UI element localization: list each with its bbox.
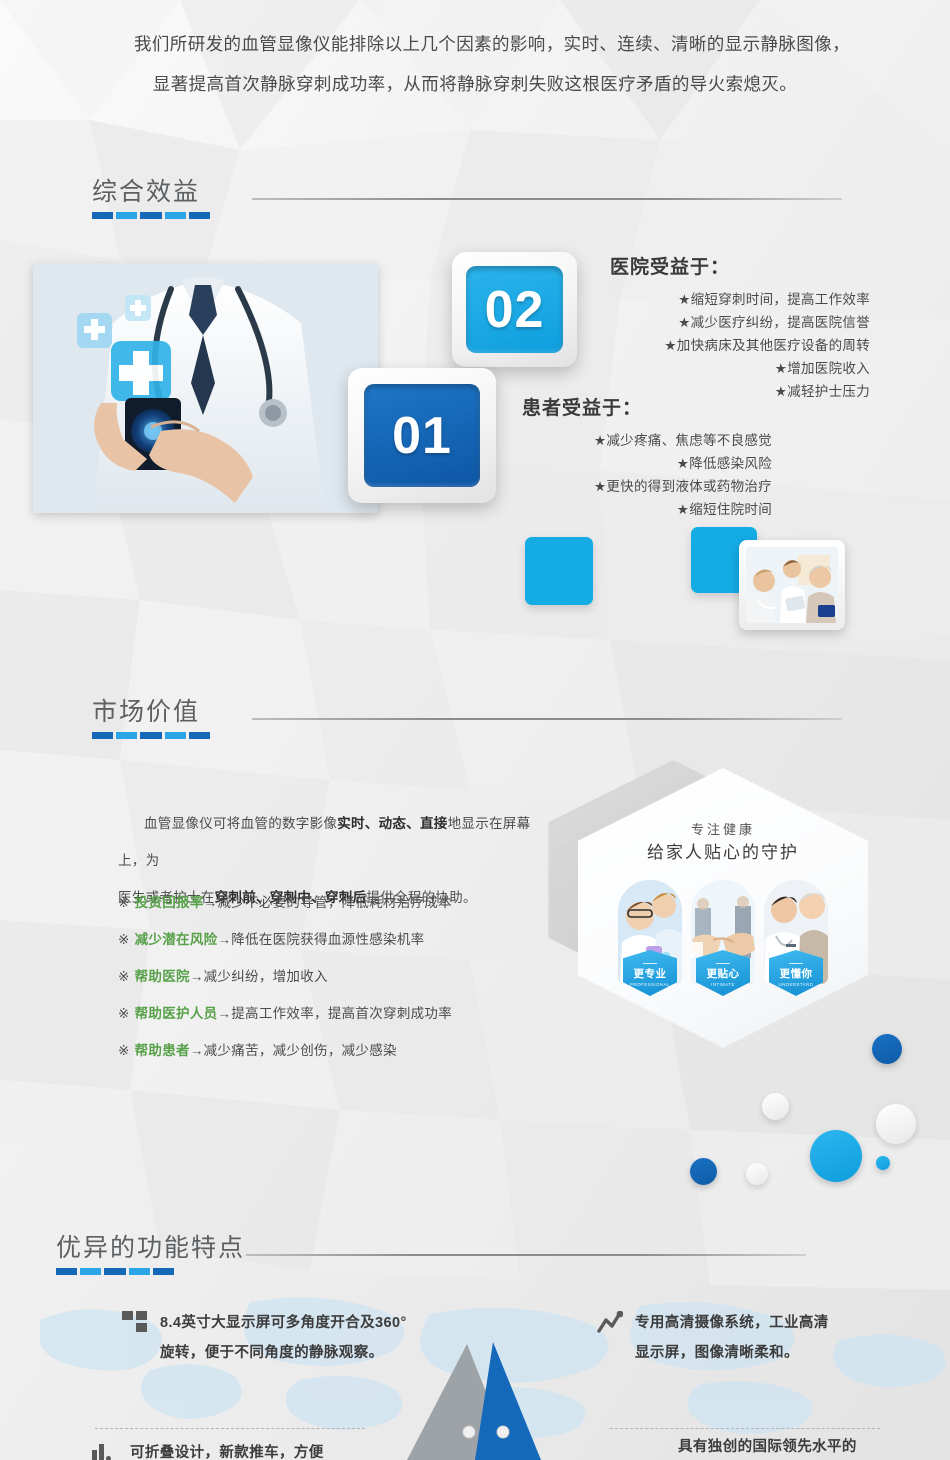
decorative-circle-cyan-1 [810,1130,862,1182]
list-item-rest: →减少痛苦，减少创伤，减少感染 [190,1043,397,1058]
hospital-benefits-list: ★缩短穿刺时间，提高工作效率 ★减少医疗纠纷，提高医院信誉 ★加快病床及其他医疗… [610,288,870,403]
decorative-circle-white-1 [762,1093,789,1120]
hexagon-tagline-1: 专注健康 [578,820,868,840]
bar-chart-icon [92,1441,118,1460]
number-badge-02-value: 02 [466,266,563,353]
heading-rule-line [252,198,842,200]
feature-line-1: 具有独创的国际领先水平的 [678,1439,857,1455]
hospital-benefits-title: 医院受益于： [610,252,870,279]
hexagon-tagline-2: 给家人贴心的守护 [578,840,868,866]
badge-label-zh: 更贴心 [707,966,740,981]
heading-underline-bar [92,732,210,739]
section-heading-features: 优异的功能特点 [56,1228,776,1271]
badge-divider [643,963,657,964]
intro-line-2: 显著提高首次静脉穿刺成功率，从而将静脉穿刺失败这根医疗矛盾的导火索熄灭。 [75,64,875,104]
feature-item-foldable: 可折叠设计，新款推车，方便 [92,1438,422,1460]
list-item-key: 帮助医院 [135,969,190,984]
decorative-circle-blue-2 [690,1158,717,1185]
doctor-photo [33,263,378,513]
hexagon-photo-professional: 更专业 PROFESSIONAL [618,880,682,984]
number-badge-02: 02 [452,252,577,367]
hexagon-photo-understand: 更懂你 UNDERSTAND [764,880,828,984]
list-item: ★缩短住院时间 [522,498,772,521]
grid-squares-icon [122,1311,148,1337]
badge-label-en: INTIMATE [711,982,735,987]
feature-divider-left [95,1428,365,1429]
intro-line-1: 我们所研发的血管显像仪能排除以上几个因素的影响，实时、连续、清晰的显示静脉图像， [75,24,875,64]
nurse-patient-photo [746,547,838,623]
badge-label-zh: 更专业 [634,966,667,981]
heading-underline-bar [56,1268,174,1275]
feature-line-2: 显示屏，图像清晰柔和。 [635,1345,799,1361]
section-title-text: 市场价值 [92,692,200,735]
section-title-text: 优异的功能特点 [56,1228,245,1271]
feature-item-camera: 专用高清摄像系统，工业高清 显示屏，图像清晰柔和。 [597,1308,897,1368]
list-item: ★加快病床及其他医疗设备的周转 [610,334,870,357]
feature-line-1: 8.4英寸大显示屏可多角度开合及360° [160,1315,407,1331]
list-item-key: 投资回报率 [135,895,204,910]
badge-label-en: UNDERSTAND [779,982,814,987]
heading-rule-line [252,718,842,720]
pie-chart-icon [640,1435,666,1460]
list-item: ★减少医疗纠纷，提高医院信誉 [610,311,870,334]
slide-page: 我们所研发的血管显像仪能排除以上几个因素的影响，实时、连续、清晰的显示静脉图像，… [0,0,950,1460]
section-heading-benefits: 综合效益 [92,172,812,215]
list-item: ★降低感染风险 [522,452,772,475]
market-p1-bold: 实时、动态、直接 [337,816,447,831]
decorative-circle-blue-1 [872,1034,902,1064]
badge-label-zh: 更懂你 [780,966,813,981]
patient-benefits-title: 患者受益于： [522,393,772,420]
badge-label-en: PROFESSIONAL [630,982,670,987]
feature-divider-right [610,1428,880,1429]
list-item: ※减少潜在风险→降低在医院获得血源性感染机率 [118,921,578,958]
list-item-rest: →减少不必要的导管，降低耗材治疗成本 [204,895,452,910]
bullet-mark-icon: ※ [118,969,130,984]
badge-understand: 更懂你 UNDERSTAND [769,950,823,996]
doctor-photo-art [33,263,378,513]
feature-text: 8.4英寸大显示屏可多角度开合及360° 旋转，便于不同角度的静脉观察。 [160,1308,407,1368]
decorative-circle-white-3 [746,1163,768,1185]
market-value-list: ※投资回报率→减少不必要的导管，降低耗材治疗成本 ※减少潜在风险→降低在医院获得… [118,884,578,1069]
feature-line-1: 可折叠设计，新款推车，方便 [130,1445,324,1460]
list-item-rest: →减少纠纷，增加收入 [190,969,328,984]
list-item-key: 帮助医护人员 [135,1006,218,1021]
section-title-text: 综合效益 [92,172,200,215]
heading-rule-line [246,1254,806,1256]
list-item: ※帮助医护人员→提高工作效率，提高首次穿刺成功率 [118,995,578,1032]
number-badge-01: 01 [348,368,496,503]
badge-divider [716,963,730,964]
list-item: ★更快的得到液体或药物治疗 [522,475,772,498]
list-item: ※投资回报率→减少不必要的导管，降低耗材治疗成本 [118,884,578,921]
decorative-circle-cyan-2 [876,1156,890,1170]
list-item: ※帮助医院→减少纠纷，增加收入 [118,958,578,995]
decorative-square-cyan-1 [525,537,593,605]
feature-text: 具有独创的国际领先水平的 [678,1432,857,1460]
list-item-rest: →提高工作效率，提高首次穿刺成功率 [217,1006,452,1021]
intro-paragraph: 我们所研发的血管显像仪能排除以上几个因素的影响，实时、连续、清晰的显示静脉图像，… [75,24,875,104]
section-heading-market-value: 市场价值 [92,692,812,735]
list-item-rest: →降低在医院获得血源性感染机率 [217,932,424,947]
bullet-mark-icon: ※ [118,932,130,947]
nurse-patient-photo-art [746,547,838,623]
list-item: ★增加医院收入 [610,357,870,380]
hospital-benefits-group: 医院受益于： ★缩短穿刺时间，提高工作效率 ★减少医疗纠纷，提高医院信誉 ★加快… [610,252,870,403]
list-item-key: 帮助患者 [135,1043,190,1058]
patient-benefits-list: ★减少疼痛、焦虑等不良感觉 ★降低感染风险 ★更快的得到液体或药物治疗 ★缩短住… [522,429,772,521]
badge-professional: 更专业 PROFESSIONAL [623,950,677,996]
feature-line-2: 旋转，便于不同角度的静脉观察。 [160,1345,384,1361]
list-item: ★缩短穿刺时间，提高工作效率 [610,288,870,311]
bullet-mark-icon: ※ [118,1043,130,1058]
patient-benefits-group: 患者受益于： ★减少疼痛、焦虑等不良感觉 ★降低感染风险 ★更快的得到液体或药物… [522,393,772,521]
list-item: ★减少疼痛、焦虑等不良感觉 [522,429,772,452]
badge-intimate: 更贴心 INTIMATE [696,950,750,996]
feature-item-international: 具有独创的国际领先水平的 [640,1432,940,1460]
market-p1-part-a: 血管显像仪可将血管的数字影像 [144,816,337,831]
bullet-mark-icon: ※ [118,895,130,910]
market-paragraph-1: 血管显像仪可将血管的数字影像实时、动态、直接地显示在屏幕上，为 [118,805,548,879]
feature-text: 可折叠设计，新款推车，方便 [130,1438,324,1460]
hexagon-photo-intimate: 更贴心 INTIMATE [691,880,755,984]
badge-divider [789,963,803,964]
bullet-mark-icon: ※ [118,1006,130,1021]
number-badge-01-value: 01 [364,384,480,487]
feature-text: 专用高清摄像系统，工业高清 显示屏，图像清晰柔和。 [635,1308,829,1368]
heading-underline-bar [92,212,210,219]
hexagon-photo-row: 更专业 PROFESSIONAL [578,880,868,984]
feature-item-display: 8.4英寸大显示屏可多角度开合及360° 旋转，便于不同角度的静脉观察。 [122,1308,452,1368]
feature-line-1: 专用高清摄像系统，工业高清 [635,1315,829,1331]
zigzag-chart-icon [597,1311,623,1337]
list-item: ※帮助患者→减少痛苦，减少创伤，减少感染 [118,1032,578,1069]
nurse-patient-photo-frame [739,540,845,630]
list-item-key: 减少潜在风险 [135,932,218,947]
decorative-circle-white-2 [876,1104,916,1144]
